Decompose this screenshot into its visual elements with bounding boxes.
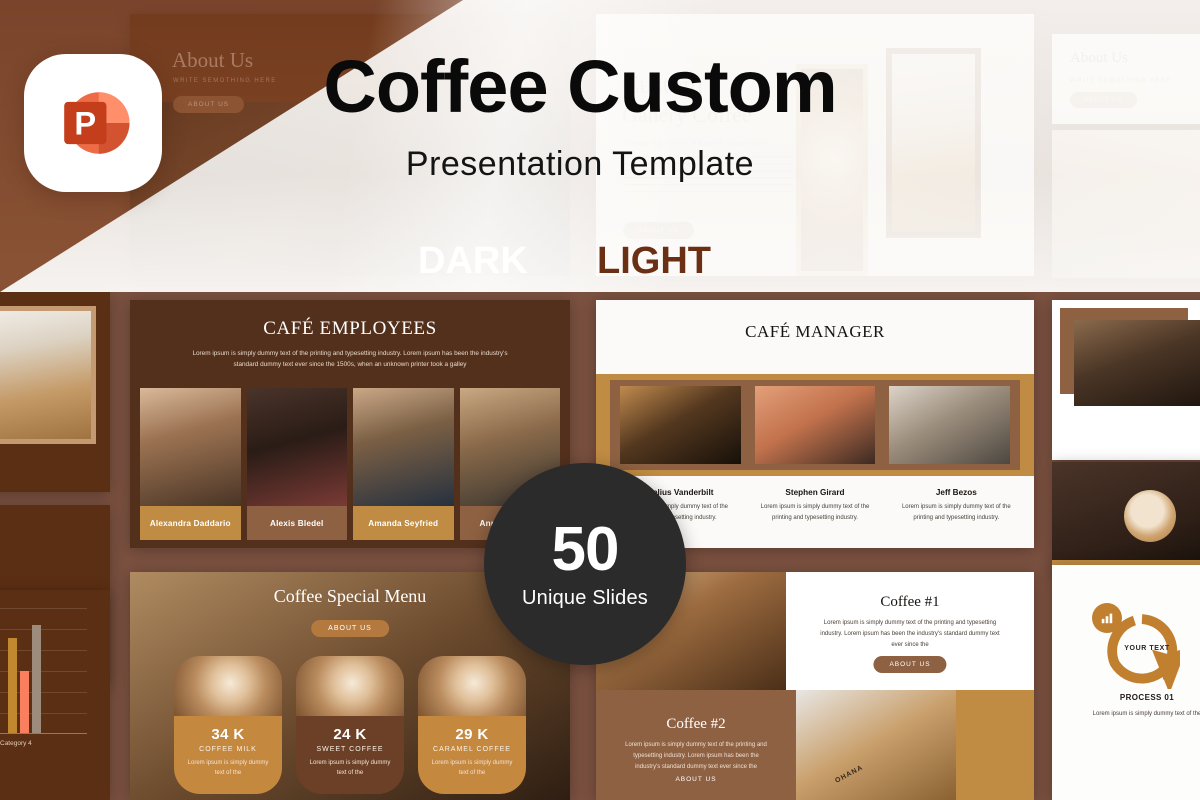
bar-chart	[0, 608, 87, 734]
process-badge-label: YOUR TEXT	[1052, 645, 1200, 652]
badge-number: 50	[552, 519, 619, 581]
process-step-name: PROCESS 01	[1052, 693, 1200, 702]
menu-card-text: Lorem ipsum is simply dummy text of the	[174, 758, 282, 778]
slide-preview-left-image[interactable]	[0, 292, 110, 492]
menu-card-number: 24 K	[296, 726, 404, 743]
chart-badge-icon	[1092, 603, 1122, 633]
employees-description: Lorem ipsum is simply dummy text of the …	[182, 348, 518, 370]
menu-about-button[interactable]: ABOUT US	[311, 620, 389, 637]
process-step-desc: Lorem ipsum is simply dummy text of the	[1082, 709, 1200, 719]
employee-name: Alexandra Daddario	[140, 506, 241, 540]
coffee1-text-panel: Coffee #1 Lorem ipsum is simply dummy te…	[786, 572, 1034, 690]
coffee2-desc: Lorem ipsum is simply dummy text of the …	[620, 740, 772, 772]
menu-card-text: Lorem ipsum is simply dummy text of the	[418, 758, 526, 778]
bar-series1-cat4	[20, 671, 29, 733]
coffee1-title: Coffee #1	[786, 594, 1034, 611]
slide-preview-process-diagram[interactable]: YOUR TEXT PROCESS 01 Lorem ipsum is simp…	[1052, 565, 1200, 800]
slide-preview-bar-chart[interactable]: Category 3 Category 4 Series 3	[0, 590, 110, 800]
menu-card[interactable]: 24 K SWEET COFFEE Lorem ipsum is simply …	[296, 656, 404, 794]
theme-label-light: LIGHT	[597, 240, 711, 283]
menu-card-label: CARAMEL COFFEE	[418, 746, 526, 753]
coffee2-accent-strip	[956, 690, 1034, 800]
manager-name: Jeff Bezos	[893, 488, 1020, 497]
coffee1-button[interactable]: ABOUT US	[873, 656, 946, 673]
page-title: Coffee Custom	[0, 50, 1160, 124]
menu-card-photo	[174, 656, 282, 716]
employee-name: Amanda Seyfried	[353, 506, 454, 540]
dark-mug-photo	[1074, 320, 1200, 406]
unique-slides-badge: 50 Unique Slides	[484, 463, 686, 665]
bar-chart-glyph	[1100, 611, 1114, 625]
menu-card-number: 34 K	[174, 726, 282, 743]
bar-series3-cat4	[32, 625, 41, 733]
employees-title: CAFÉ EMPLOYEES	[130, 318, 570, 340]
manager-photo-row	[620, 386, 1010, 464]
manager-photo	[620, 386, 741, 464]
manager-desc: Lorem ipsum is simply dummy text of the …	[893, 502, 1020, 523]
manager-name: Stephen Girard	[751, 488, 878, 497]
employee-photo	[247, 388, 348, 506]
powerpoint-letter: P	[74, 105, 96, 142]
powerpoint-glyph: P	[45, 75, 141, 171]
menu-card-text: Lorem ipsum is simply dummy text of the	[296, 758, 404, 778]
photo-frame	[0, 306, 96, 444]
menu-card-label: COFFEE MILK	[174, 746, 282, 753]
manager-photo	[889, 386, 1010, 464]
plate-engraving-text: OHANA	[834, 764, 864, 785]
theme-label-dark: DARK	[418, 240, 528, 283]
coffee2-button[interactable]: ABOUT US	[596, 776, 796, 783]
employee-card[interactable]: Amanda Seyfried	[353, 388, 454, 540]
hero-text-block: Coffee Custom Presentation Template DARK…	[0, 0, 1200, 292]
menu-card-label: SWEET COFFEE	[296, 746, 404, 753]
menu-card-number: 29 K	[418, 726, 526, 743]
employee-photo	[140, 388, 241, 506]
tulip-coffee-photo	[0, 311, 91, 439]
coffee2-photo: OHANA	[796, 690, 956, 800]
menu-card-grid: 34 K COFFEE MILK Lorem ipsum is simply d…	[174, 656, 526, 794]
manager-entry: Jeff Bezos Lorem ipsum is simply dummy t…	[893, 488, 1020, 523]
bar-series2-cat4	[8, 638, 17, 733]
page-subtitle: Presentation Template	[0, 145, 1160, 184]
slide-preview-right-photo-grid[interactable]	[1052, 300, 1200, 460]
manager-photo	[755, 386, 876, 464]
menu-card-photo	[418, 656, 526, 716]
chart-xtick-category4: Category 4	[0, 740, 32, 747]
manager-title: CAFÉ MANAGER	[596, 322, 1034, 342]
menu-card[interactable]: 34 K COFFEE MILK Lorem ipsum is simply d…	[174, 656, 282, 794]
coffee1-desc: Lorem ipsum is simply dummy text of the …	[818, 618, 1002, 650]
employee-card[interactable]: Alexis Bledel	[247, 388, 348, 540]
manager-desc: Lorem ipsum is simply dummy text of the …	[751, 502, 878, 523]
poster-canvas: Category 3 Category 4 Series 3 About Us …	[0, 0, 1200, 800]
coffee2-title: Coffee #2	[596, 716, 796, 733]
badge-label: Unique Slides	[522, 587, 648, 610]
latte-cup	[1124, 490, 1176, 542]
powerpoint-icon[interactable]: P	[24, 54, 162, 192]
menu-card[interactable]: 29 K CARAMEL COFFEE Lorem ipsum is simpl…	[418, 656, 526, 794]
coffee2-text-panel: Coffee #2 Lorem ipsum is simply dummy te…	[596, 690, 796, 800]
manager-entry: Stephen Girard Lorem ipsum is simply dum…	[751, 488, 878, 523]
employee-card[interactable]: Alexandra Daddario	[140, 388, 241, 540]
employee-photo	[353, 388, 454, 506]
slide-preview-right-latte-photo[interactable]	[1052, 462, 1200, 572]
employee-name: Alexis Bledel	[247, 506, 348, 540]
menu-card-photo	[296, 656, 404, 716]
